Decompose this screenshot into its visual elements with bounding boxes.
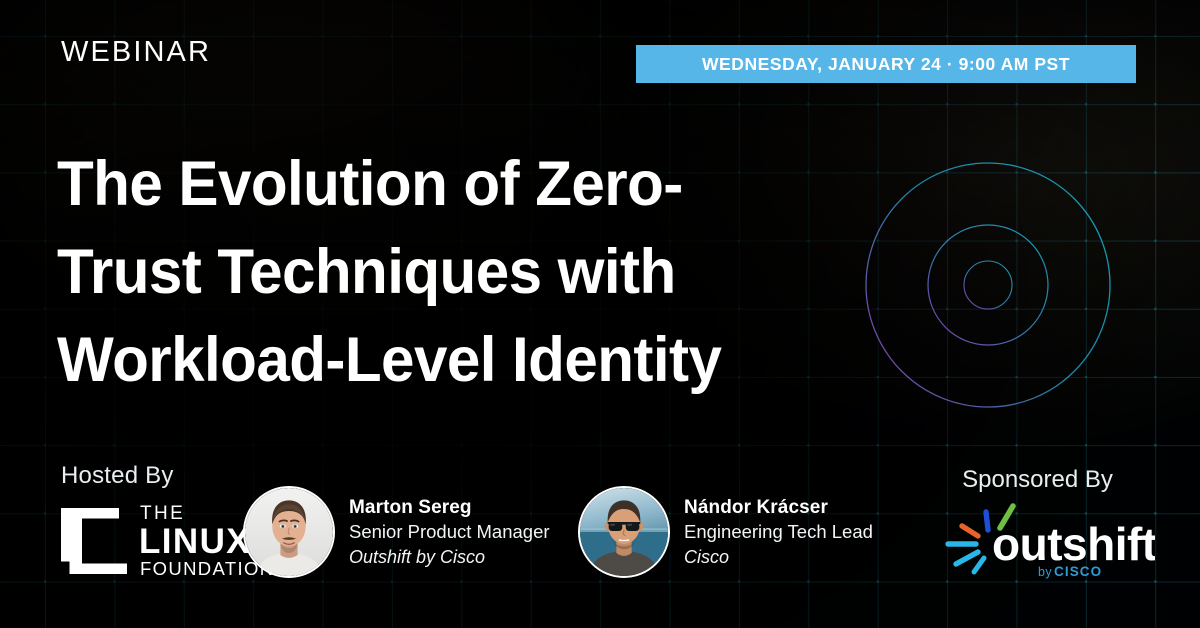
sponsored-by-label: Sponsored By (920, 466, 1155, 494)
speaker-info: Marton Sereg Senior Product Manager Outs… (349, 495, 550, 569)
avatar-photo (245, 488, 333, 576)
outshift-byline-prefix: by (1038, 565, 1052, 579)
speaker-org: Outshift by Cisco (349, 545, 550, 569)
outshift-byline-brand: CISCO (1054, 564, 1102, 579)
page-title-line-3: Workload-Level Identity (57, 316, 811, 404)
speaker-name: Marton Sereg (349, 495, 550, 520)
speaker-info: Nándor Krácser Engineering Tech Lead Cis… (684, 495, 873, 569)
outshift-wordmark: outshift (992, 518, 1155, 570)
speaker-role: Senior Product Manager (349, 520, 550, 545)
linux-foundation-bracket-icon (61, 508, 127, 574)
speaker-name: Nándor Krácser (684, 495, 873, 520)
speaker-role: Engineering Tech Lead (684, 520, 873, 545)
page-title: The Evolution of Zero- Trust Techniques … (57, 140, 811, 404)
eyebrow-webinar: WEBINAR (61, 36, 211, 69)
avatar-nandor-kracser (578, 486, 670, 578)
page-title-line-2: Trust Techniques with (57, 228, 811, 316)
speaker-card: Nándor Krácser Engineering Tech Lead Cis… (578, 486, 873, 578)
avatar-marton-sereg (243, 486, 335, 578)
sponsored-by-block: Sponsored By outshift by CISCO (920, 466, 1155, 585)
speaker-card: Marton Sereg Senior Product Manager Outs… (243, 486, 550, 578)
speaker-org: Cisco (684, 545, 873, 569)
date-badge: WEDNESDAY, JANUARY 24 · 9:00 AM PST (636, 45, 1136, 83)
outshift-by-cisco-logo: outshift by CISCO (920, 502, 1155, 580)
avatar-photo (580, 488, 668, 576)
page-title-line-1: The Evolution of Zero- (57, 140, 811, 228)
